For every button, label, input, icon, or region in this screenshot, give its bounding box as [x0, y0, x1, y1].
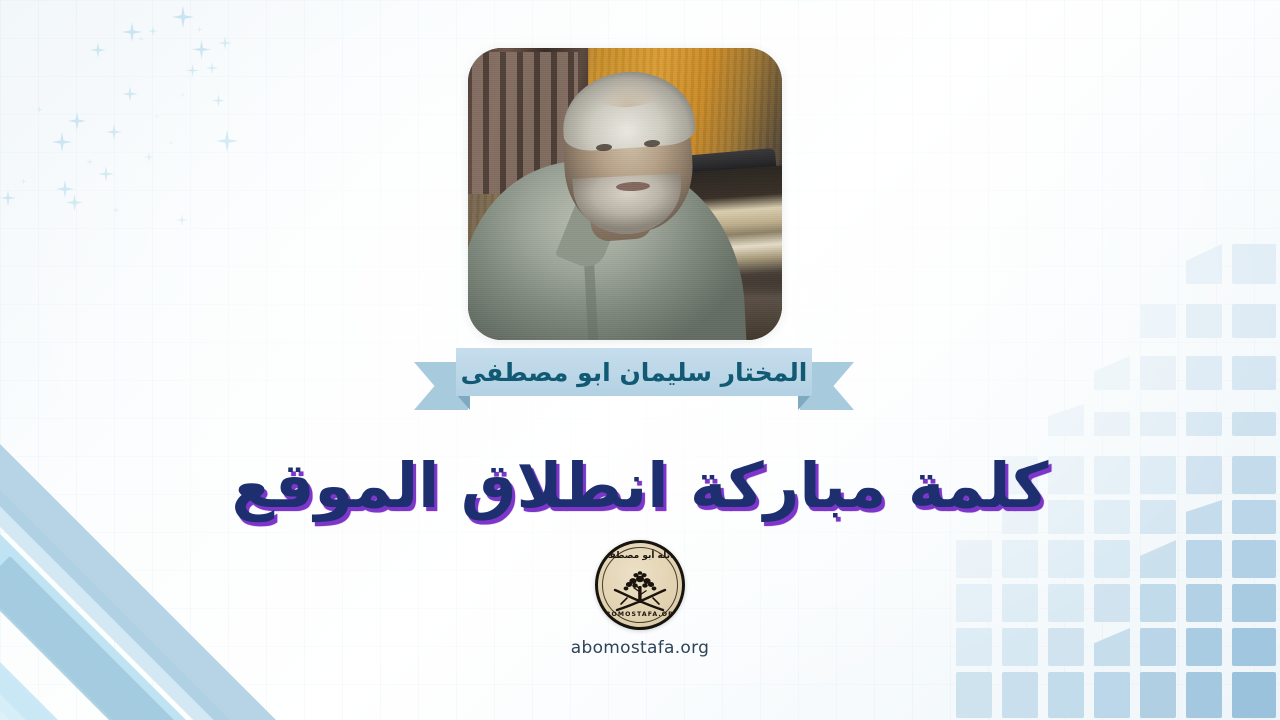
chart-block	[1232, 356, 1276, 390]
chart-block-bevel	[1048, 404, 1084, 436]
sparkle-icon	[212, 94, 225, 107]
chart-block	[1232, 672, 1276, 718]
name-ribbon: المختار سليمان ابو مصطفى	[414, 348, 854, 410]
sparkle-icon	[192, 40, 211, 59]
sparkle-icon	[20, 178, 27, 185]
sparkle-icon	[206, 62, 218, 74]
sparkle-icon	[90, 42, 106, 58]
chart-block	[1232, 244, 1276, 284]
chart-block	[1186, 672, 1222, 718]
sparkle-icon	[106, 124, 122, 140]
chart-block	[1140, 672, 1176, 718]
photo-grain-overlay	[468, 48, 782, 340]
person-name-label: المختار سليمان ابو مصطفى	[461, 358, 808, 387]
sparkle-icon	[144, 152, 154, 162]
chart-block-bevel	[1186, 244, 1222, 284]
sparkle-icon	[172, 6, 194, 28]
chart-block	[1186, 304, 1222, 338]
sparkle-icon	[148, 26, 158, 36]
sparkle-icon	[196, 26, 203, 33]
chart-block	[1186, 412, 1222, 436]
sparkle-icon	[122, 86, 138, 102]
chart-block	[1232, 412, 1276, 436]
sparkle-icon	[154, 114, 159, 119]
sparkle-icon	[68, 112, 86, 130]
sparkle-icon	[180, 92, 186, 98]
sparkle-icon	[138, 36, 144, 42]
chart-block	[1094, 412, 1130, 436]
chart-block-bevel	[1094, 356, 1130, 390]
brand-block: عائلة أبو مصطفى	[0, 540, 1280, 658]
title-area: كلمة مباركة انطلاق الموقع	[0, 440, 1280, 530]
sparkle-icon	[86, 158, 94, 166]
chart-block	[1140, 304, 1176, 338]
sparkle-icon	[0, 190, 16, 206]
chart-block	[1002, 672, 1038, 718]
sparkle-icon	[186, 64, 199, 77]
sparkle-icon	[52, 132, 72, 152]
logo-arc-bottom-text: ABOMOSTAFA.ORG	[598, 612, 682, 618]
chart-block	[1140, 356, 1176, 390]
website-url-label: abomostafa.org	[571, 638, 709, 658]
sparkle-icon	[56, 180, 74, 198]
chart-block	[1140, 412, 1176, 436]
abomostafa-logo: عائلة أبو مصطفى	[595, 540, 685, 630]
sparkle-icon	[98, 166, 114, 182]
person-photo	[468, 48, 782, 340]
sparkle-icon	[168, 140, 174, 146]
chart-block	[956, 672, 992, 718]
chart-block	[1186, 356, 1222, 390]
ribbon-band: المختار سليمان ابو مصطفى	[456, 348, 812, 396]
chart-block	[1048, 672, 1084, 718]
logo-arc-top-text: عائلة أبو مصطفى	[598, 552, 682, 561]
chart-block	[1094, 672, 1130, 718]
chart-block	[1232, 304, 1276, 338]
sparkle-icon	[66, 194, 83, 211]
sparkle-cluster	[0, 0, 330, 300]
sparkle-icon	[216, 130, 238, 152]
sparkle-icon	[218, 36, 232, 50]
sparkle-icon	[112, 206, 120, 214]
announcement-card: المختار سليمان ابو مصطفى كلمة مباركة انط…	[0, 0, 1280, 720]
sparkle-icon	[176, 214, 188, 226]
crossed-swords-icon	[609, 587, 671, 613]
page-title: كلمة مباركة انطلاق الموقع	[232, 449, 1049, 522]
sparkle-icon	[36, 106, 43, 113]
